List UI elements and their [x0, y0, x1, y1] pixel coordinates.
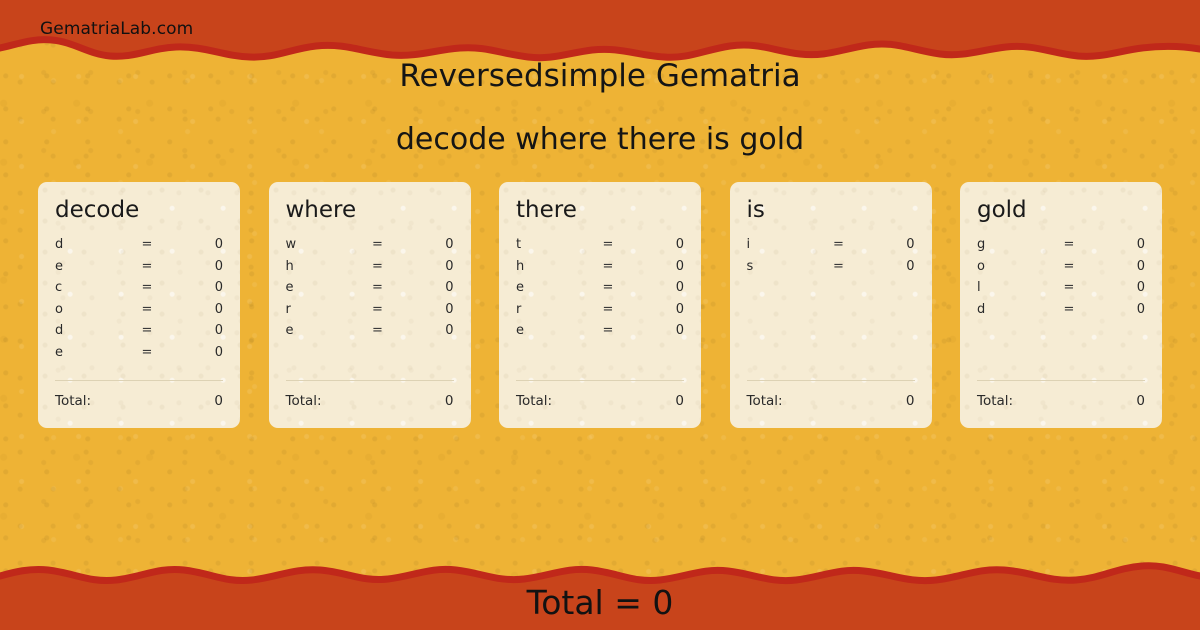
total-value: 0	[445, 393, 454, 409]
letter-row: i = 0	[747, 237, 915, 259]
equals-sign: =	[352, 259, 404, 274]
letter-value: 0	[1095, 259, 1145, 274]
letter-char: s	[747, 259, 813, 274]
equals-sign: =	[121, 280, 173, 295]
letter-value: 0	[173, 237, 223, 252]
letter-row: e = 0	[516, 280, 684, 302]
letter-row: e = 0	[55, 259, 223, 281]
letter-char: d	[55, 237, 121, 252]
total-label: Total:	[747, 393, 783, 409]
letter-row: g = 0	[977, 237, 1145, 259]
letter-value: 0	[404, 323, 454, 338]
equals-sign: =	[813, 237, 865, 252]
equals-sign: =	[352, 237, 404, 252]
letter-value: 0	[634, 259, 684, 274]
card-divider	[516, 380, 684, 381]
letter-char: w	[286, 237, 352, 252]
word-card: gold g = 0 o = 0 l = 0 d	[960, 182, 1162, 428]
letter-value: 0	[173, 302, 223, 317]
letter-char: e	[516, 323, 582, 338]
grand-total: Total = 0	[0, 583, 1200, 622]
card-word: gold	[977, 198, 1145, 223]
letter-row: o = 0	[55, 302, 223, 324]
total-value: 0	[214, 393, 223, 409]
letter-char: r	[286, 302, 352, 317]
letter-char: l	[977, 280, 1043, 295]
equals-sign: =	[352, 302, 404, 317]
equals-sign: =	[582, 237, 634, 252]
total-label: Total:	[286, 393, 322, 409]
total-label: Total:	[55, 393, 91, 409]
total-value: 0	[906, 393, 915, 409]
card-word: is	[747, 198, 915, 223]
letter-value: 0	[865, 237, 915, 252]
letter-row: d = 0	[977, 302, 1145, 324]
card-word: where	[286, 198, 454, 223]
card-divider	[286, 380, 454, 381]
word-card: there t = 0 h = 0 e = 0 r	[499, 182, 701, 428]
equals-sign: =	[121, 237, 173, 252]
equals-sign: =	[1043, 280, 1095, 295]
equals-sign: =	[352, 323, 404, 338]
letter-list: i = 0 s = 0	[747, 237, 915, 280]
letter-char: o	[55, 302, 121, 317]
letter-value: 0	[404, 280, 454, 295]
letter-char: e	[55, 345, 121, 360]
card-total-row: Total: 0	[55, 393, 223, 409]
card-total-row: Total: 0	[516, 393, 684, 409]
letter-char: o	[977, 259, 1043, 274]
card-total-row: Total: 0	[977, 393, 1145, 409]
poster-canvas: GematriaLab.com Reversedsimple Gematria …	[0, 0, 1200, 630]
letter-row: r = 0	[516, 302, 684, 324]
card-total-row: Total: 0	[286, 393, 454, 409]
letter-value: 0	[173, 259, 223, 274]
equals-sign: =	[121, 345, 173, 360]
letter-value: 0	[404, 237, 454, 252]
letter-char: e	[286, 280, 352, 295]
letter-char: i	[747, 237, 813, 252]
equals-sign: =	[582, 323, 634, 338]
letter-char: r	[516, 302, 582, 317]
card-divider	[977, 380, 1145, 381]
total-value: 0	[1136, 393, 1145, 409]
letter-value: 0	[634, 280, 684, 295]
letter-value: 0	[634, 237, 684, 252]
total-label: Total:	[977, 393, 1013, 409]
letter-char: h	[516, 259, 582, 274]
letter-row: e = 0	[286, 280, 454, 302]
letter-char: g	[977, 237, 1043, 252]
letter-value: 0	[634, 323, 684, 338]
letter-char: h	[286, 259, 352, 274]
letter-row: t = 0	[516, 237, 684, 259]
equals-sign: =	[121, 259, 173, 274]
letter-value: 0	[173, 323, 223, 338]
equals-sign: =	[582, 302, 634, 317]
letter-char: d	[977, 302, 1043, 317]
letter-value: 0	[1095, 302, 1145, 317]
letter-row: w = 0	[286, 237, 454, 259]
letter-row: o = 0	[977, 259, 1145, 281]
letter-row: r = 0	[286, 302, 454, 324]
card-word: decode	[55, 198, 223, 223]
total-value: 0	[675, 393, 684, 409]
letter-value: 0	[1095, 280, 1145, 295]
letter-row: l = 0	[977, 280, 1145, 302]
page-title: Reversedsimple Gematria	[0, 58, 1200, 94]
letter-row: h = 0	[286, 259, 454, 281]
letter-row: e = 0	[516, 323, 684, 345]
equals-sign: =	[582, 259, 634, 274]
phrase-subtitle: decode where there is gold	[0, 122, 1200, 157]
equals-sign: =	[352, 280, 404, 295]
card-word: there	[516, 198, 684, 223]
equals-sign: =	[1043, 302, 1095, 317]
card-divider	[747, 380, 915, 381]
letter-value: 0	[404, 302, 454, 317]
letter-list: t = 0 h = 0 e = 0 r = 0	[516, 237, 684, 345]
letter-char: e	[286, 323, 352, 338]
letter-row: e = 0	[55, 345, 223, 367]
letter-value: 0	[634, 302, 684, 317]
letter-row: h = 0	[516, 259, 684, 281]
letter-value: 0	[865, 259, 915, 274]
letter-row: c = 0	[55, 280, 223, 302]
letter-char: d	[55, 323, 121, 338]
letter-value: 0	[1095, 237, 1145, 252]
letter-char: t	[516, 237, 582, 252]
equals-sign: =	[121, 323, 173, 338]
equals-sign: =	[1043, 259, 1095, 274]
word-card: is i = 0 s = 0 Total: 0	[730, 182, 932, 428]
site-logo[interactable]: GematriaLab.com	[40, 19, 193, 39]
letter-row: d = 0	[55, 237, 223, 259]
letter-list: d = 0 e = 0 c = 0 o = 0	[55, 237, 223, 366]
letter-value: 0	[173, 345, 223, 360]
letter-list: g = 0 o = 0 l = 0 d = 0	[977, 237, 1145, 323]
equals-sign: =	[1043, 237, 1095, 252]
letter-char: e	[55, 259, 121, 274]
equals-sign: =	[121, 302, 173, 317]
equals-sign: =	[582, 280, 634, 295]
word-card: decode d = 0 e = 0 c = 0 o	[38, 182, 240, 428]
card-total-row: Total: 0	[747, 393, 915, 409]
word-card-row: decode d = 0 e = 0 c = 0 o	[38, 182, 1162, 428]
letter-row: s = 0	[747, 259, 915, 281]
letter-list: w = 0 h = 0 e = 0 r = 0	[286, 237, 454, 345]
letter-value: 0	[173, 280, 223, 295]
letter-char: c	[55, 280, 121, 295]
letter-char: e	[516, 280, 582, 295]
letter-row: e = 0	[286, 323, 454, 345]
card-divider	[55, 380, 223, 381]
letter-row: d = 0	[55, 323, 223, 345]
letter-value: 0	[404, 259, 454, 274]
equals-sign: =	[813, 259, 865, 274]
total-label: Total:	[516, 393, 552, 409]
word-card: where w = 0 h = 0 e = 0 r	[269, 182, 471, 428]
